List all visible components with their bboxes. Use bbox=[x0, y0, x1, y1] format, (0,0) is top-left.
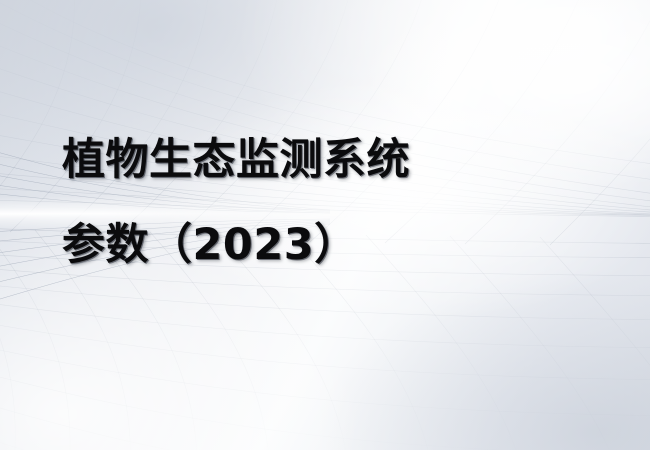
title-slide: 植物生态监测系统 参数（2023） bbox=[0, 0, 650, 450]
page-title: 植物生态监测系统 参数（2023） bbox=[62, 118, 602, 288]
title-line-2: 参数（2023） bbox=[62, 203, 602, 288]
title-line-1: 植物生态监测系统 bbox=[62, 118, 602, 203]
